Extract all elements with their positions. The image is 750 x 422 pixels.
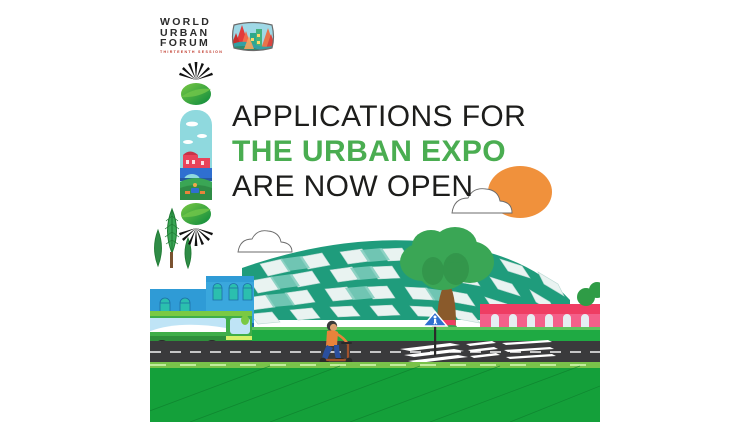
green-leaf-oval-bottom-icon [181, 203, 211, 225]
headline-line-1: APPLICATIONS FOR [232, 99, 562, 134]
headline-block: APPLICATIONS FOR THE URBAN EXPO ARE NOW … [232, 99, 562, 204]
green-leaf-oval-top-icon [181, 83, 211, 105]
wuf-wordmark: WORLD URBAN FORUM THIRTEENTH SESSION [160, 17, 223, 55]
wuf-cityscape-emblem [230, 19, 276, 53]
poster-canvas: APPLICATIONS FOR THE URBAN EXPO ARE NOW … [150, 0, 600, 422]
headline-line-3: ARE NOW OPEN [232, 169, 562, 204]
road [150, 341, 600, 365]
grass-foreground [150, 365, 600, 422]
wuf-session-label: THIRTEENTH SESSION [160, 51, 223, 55]
headline-line-2: THE URBAN EXPO [232, 134, 562, 169]
fan-burst-top-icon [179, 62, 213, 80]
left-margin [0, 0, 150, 422]
right-margin [600, 0, 750, 422]
wuf-logo: WORLD URBAN FORUM THIRTEENTH SESSION [160, 12, 295, 60]
vertical-decorative-strip [172, 54, 220, 254]
wuf-word-forum: FORUM [160, 38, 223, 49]
city-illustration-card [180, 110, 212, 200]
fan-burst-bottom-icon [179, 228, 213, 246]
poster-stage: APPLICATIONS FOR THE URBAN EXPO ARE NOW … [0, 0, 750, 422]
